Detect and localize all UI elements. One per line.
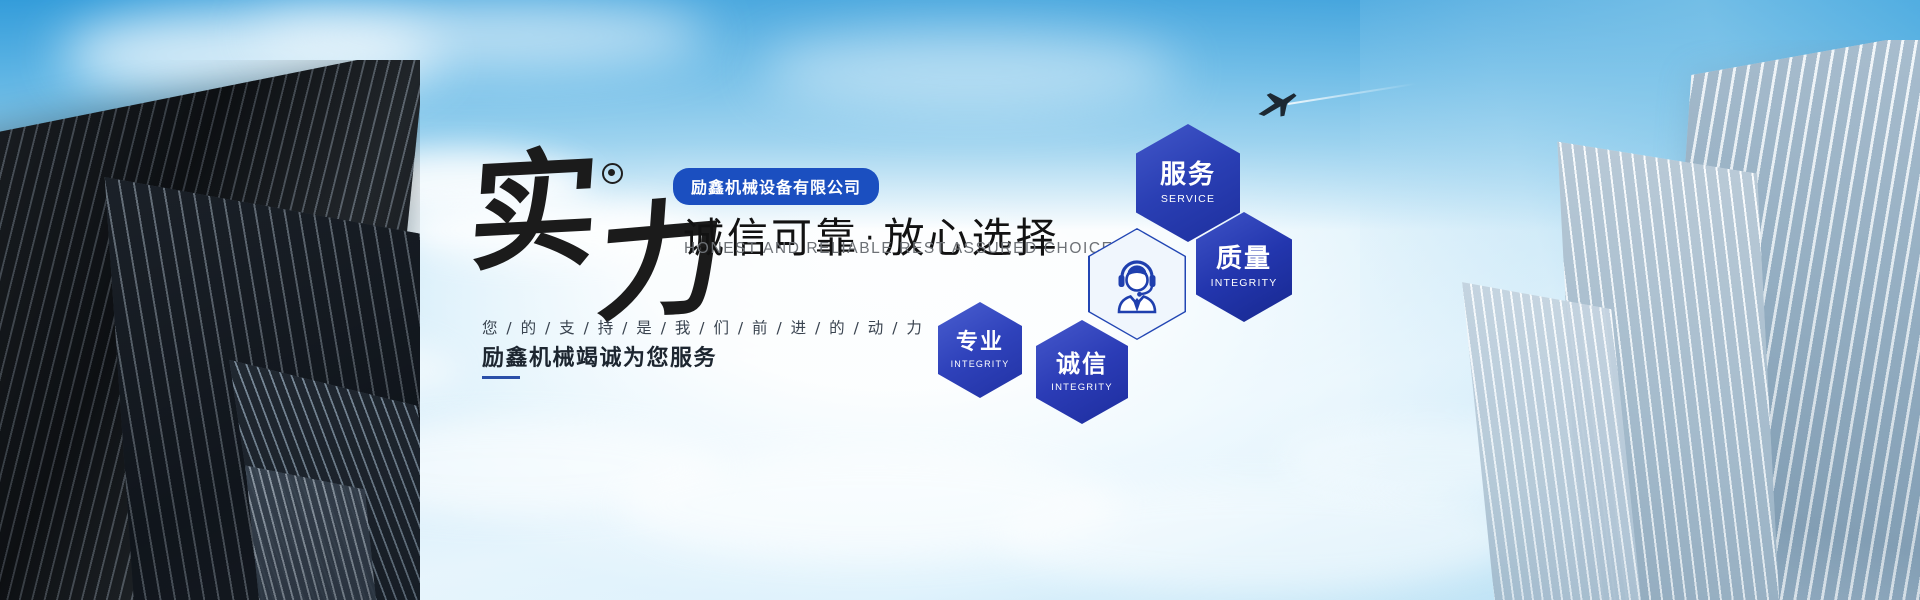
tagline-english: HONEST AND RELIABLE REST ASSURED CHOICE: [684, 240, 1114, 258]
brush-char-1: 实: [465, 145, 603, 280]
slogan-separated-line: 您 / 的 / 支 / 持 / 是 / 我 / 们 / 前 / 进 / 的 / …: [482, 316, 924, 338]
hexagon-quality-label-en: INTEGRITY: [1211, 277, 1278, 289]
aperture-dot-icon: [602, 163, 623, 184]
headset-agent-icon: [1109, 254, 1165, 314]
slogan-main-line: 励鑫机械竭诚为您服务: [482, 340, 717, 372]
slogan-underline-rule: [482, 376, 520, 379]
brush-headline: 实 力: [470, 130, 700, 270]
airplane-icon: [1255, 90, 1299, 120]
left-building-cluster: [0, 60, 420, 600]
right-building-cluster: [1420, 40, 1920, 600]
cloud: [760, 30, 1180, 110]
company-name-badge: 励鑫机械设备有限公司: [673, 168, 879, 205]
hexagon-integrity-label-cn: 诚信: [1056, 351, 1108, 377]
hexagon-quality-label-cn: 质量: [1216, 245, 1272, 274]
hexagon-professional-label-en: INTEGRITY: [951, 359, 1010, 369]
hexagon-professional-label-cn: 专业: [956, 331, 1004, 355]
hexagon-integrity-label-en: INTEGRITY: [1051, 382, 1112, 393]
hero-banner: 实 力 励鑫机械设备有限公司 诚信可靠·放心选择 HONEST AND RELI…: [0, 0, 1920, 600]
hexagon-service-label-cn: 服务: [1160, 161, 1216, 190]
hexagon-service-label-en: SERVICE: [1161, 193, 1215, 205]
